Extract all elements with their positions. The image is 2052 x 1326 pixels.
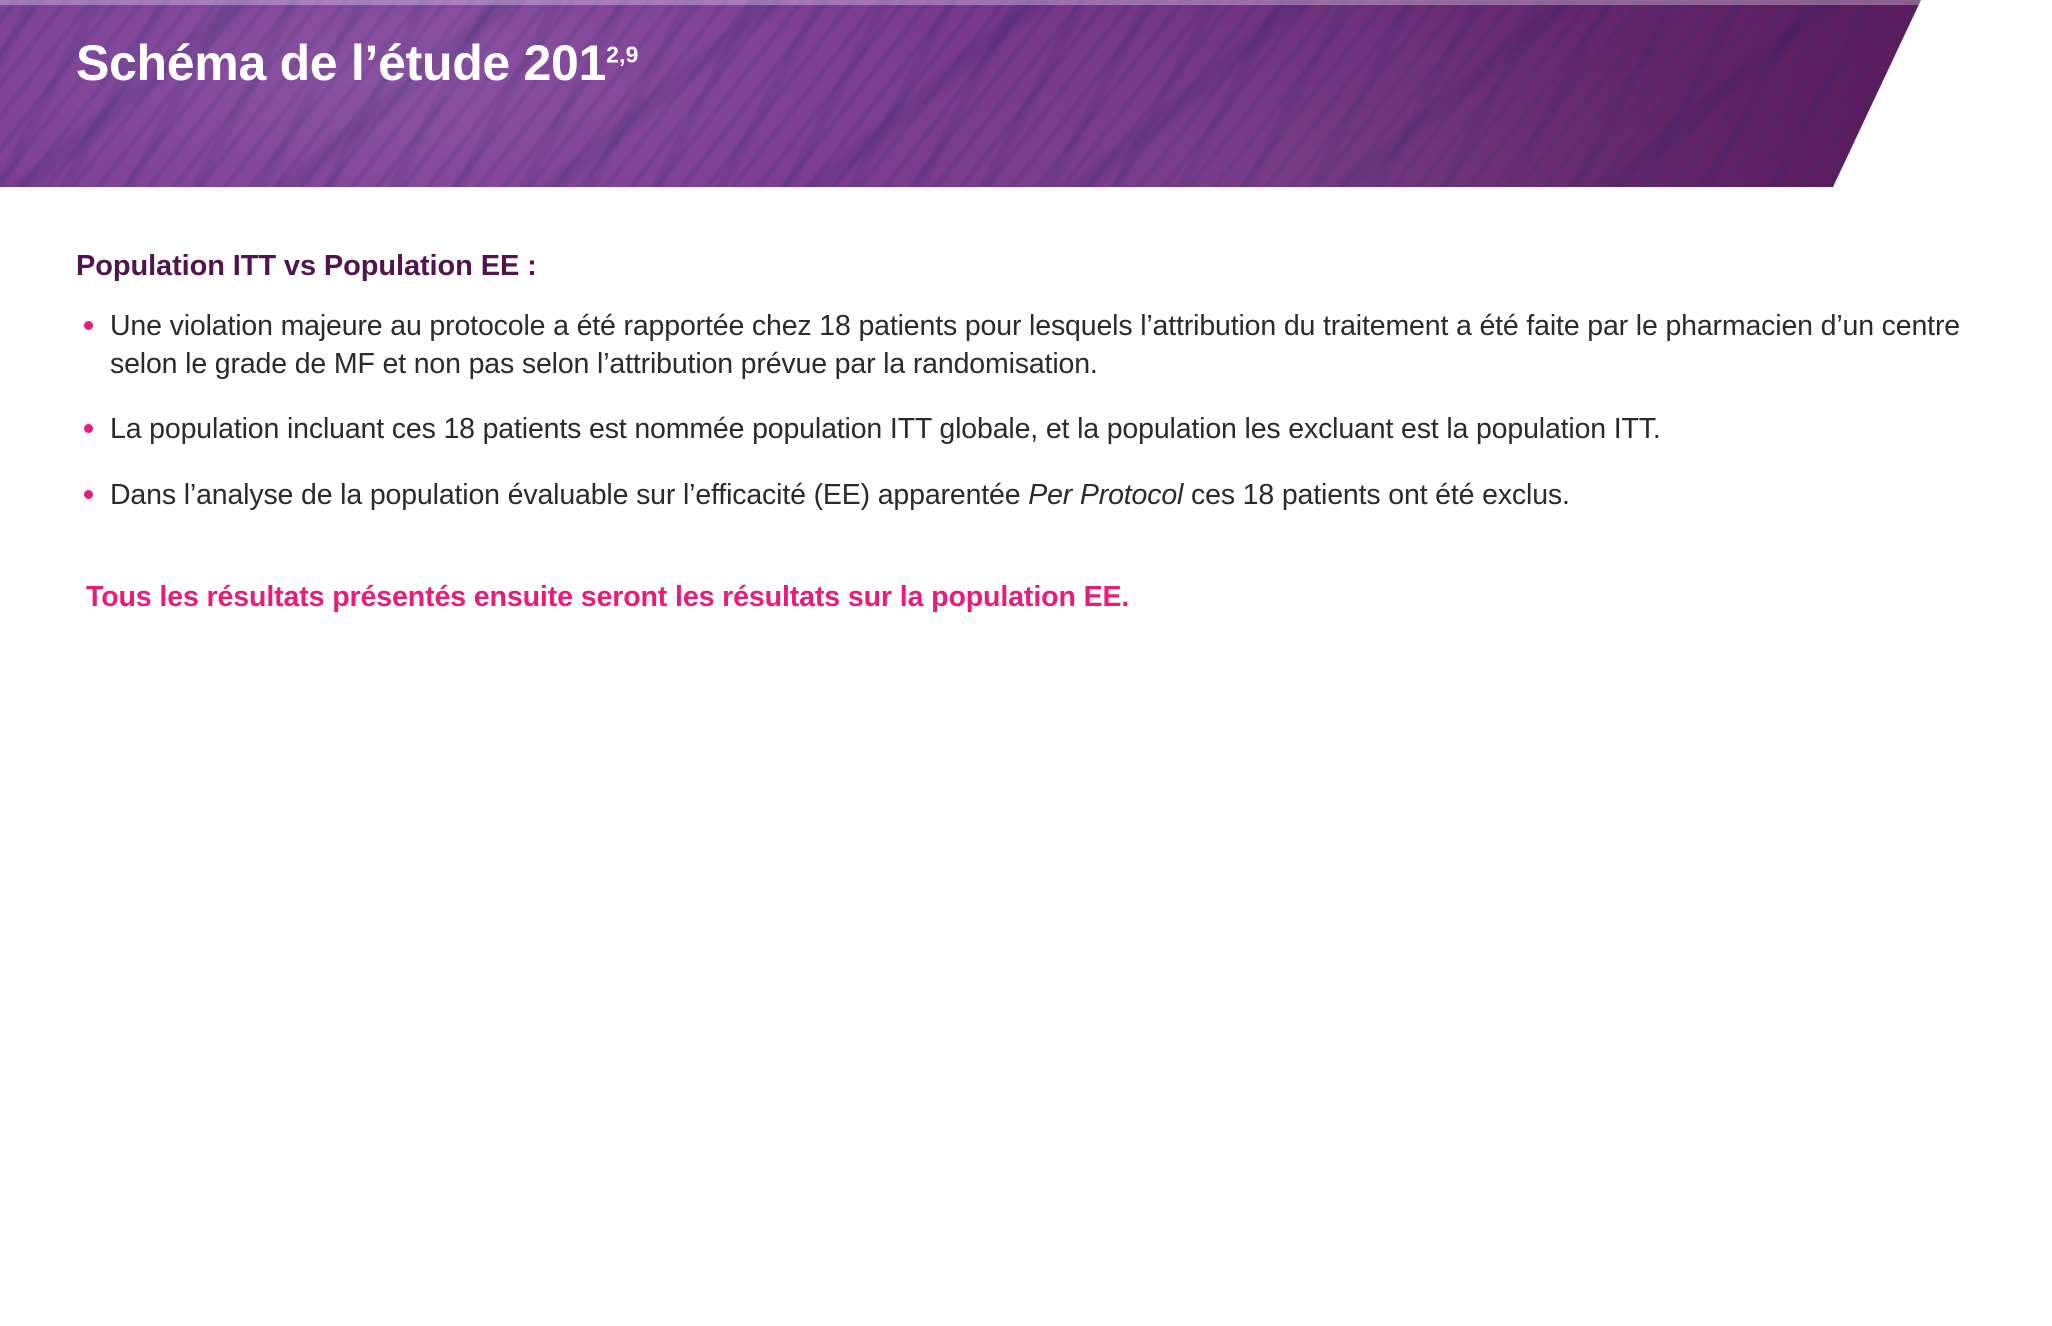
list-item-text: Une violation majeure au protocole a été… — [110, 310, 1960, 380]
conclusion-statement: Tous les résultats présentés ensuite ser… — [86, 581, 1996, 614]
page-title-superscript: 2,9 — [606, 41, 639, 67]
bullet-dot-icon — [84, 490, 93, 499]
content-area: Population ITT vs Population EE : Une vi… — [76, 250, 1996, 614]
list-item: Une violation majeure au protocole a été… — [76, 307, 1996, 383]
page-title-text: Schéma de l’étude 201 — [76, 35, 606, 91]
banner-top-highlight-line — [0, 0, 2052, 5]
list-item: La population incluant ces 18 patients e… — [76, 410, 1996, 448]
list-item: Dans l’analyse de la population évaluabl… — [76, 476, 1996, 514]
list-item-text-tail: ces 18 patients ont été exclus. — [1183, 479, 1570, 511]
list-item-text: La population incluant ces 18 patients e… — [110, 413, 1661, 445]
slide-root: Schéma de l’étude 2012,9 Population ITT … — [0, 0, 2052, 1326]
bullet-dot-icon — [84, 424, 93, 433]
bullet-dot-icon — [84, 321, 93, 330]
page-title: Schéma de l’étude 2012,9 — [76, 34, 639, 92]
header-banner — [0, 0, 2052, 187]
list-item-emphasis: Per Protocol — [1028, 479, 1183, 511]
section-heading: Population ITT vs Population EE : — [76, 250, 1996, 283]
banner-sheen-overlay — [0, 0, 2052, 187]
list-item-text: Dans l’analyse de la population évaluabl… — [110, 479, 1028, 511]
bullet-list: Une violation majeure au protocole a été… — [76, 307, 1996, 514]
